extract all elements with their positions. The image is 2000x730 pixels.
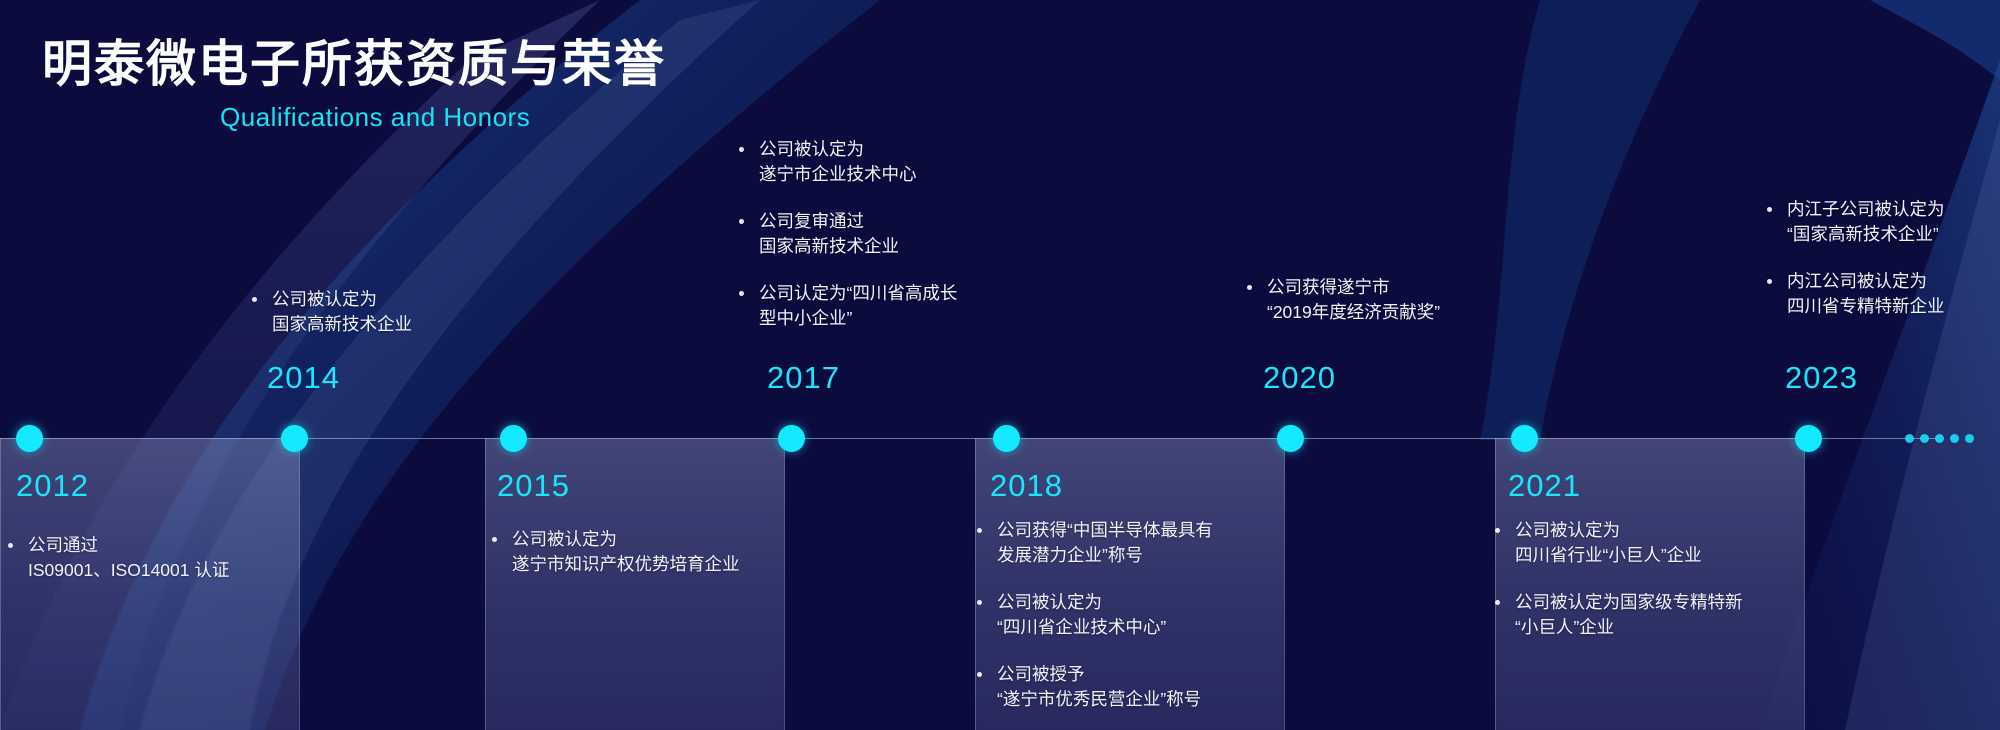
year-label-2017: 2017 <box>767 360 840 396</box>
milestone-item: 公司被认定为国家级专精特新 “小巨人”企业 <box>1493 590 1803 640</box>
milestone-item: 公司获得“中国半导体最具有 发展潜力企业”称号 <box>975 518 1275 568</box>
milestone-item: 公司被认定为 四川省行业“小巨人”企业 <box>1493 518 1803 568</box>
milestone-item: 公司被认定为 遂宁市知识产权优势培育企业 <box>490 527 775 577</box>
timeline-axis-dashes <box>1905 434 1974 443</box>
milestone-item: 公司被认定为 国家高新技术企业 <box>250 287 540 337</box>
milestone-item: 公司复审通过 国家高新技术企业 <box>737 209 1037 259</box>
milestone-item: 公司被认定为 “四川省企业技术中心” <box>975 590 1275 640</box>
milestone-group-2015: 公司被认定为 遂宁市知识产权优势培育企业 <box>490 527 775 577</box>
milestone-item: 内江公司被认定为 四川省专精特新企业 <box>1765 269 2000 319</box>
header: 明泰微电子所获资质与荣誉 Qualifications and Honors <box>42 36 666 133</box>
milestone-item: 公司通过 IS09001、ISO14001 认证 <box>6 533 296 583</box>
milestone-item: 内江子公司被认定为 “国家高新技术企业” <box>1765 197 2000 247</box>
timeline-node-2017[interactable] <box>778 425 805 452</box>
milestone-group-2014: 公司被认定为 国家高新技术企业 <box>250 287 540 337</box>
page-title: 明泰微电子所获资质与荣誉 <box>42 36 666 94</box>
timeline-node-2015[interactable] <box>500 425 527 452</box>
milestone-group-2020: 公司获得遂宁市 “2019年度经济贡献奖” <box>1245 275 1545 325</box>
timeline-node-2014[interactable] <box>281 425 308 452</box>
milestone-group-2021: 公司被认定为 四川省行业“小巨人”企业 公司被认定为国家级专精特新 “小巨人”企… <box>1493 518 1803 640</box>
milestone-item: 公司获得遂宁市 “2019年度经济贡献奖” <box>1245 275 1545 325</box>
year-label-2021: 2021 <box>1508 468 1581 504</box>
year-label-2015: 2015 <box>497 468 570 504</box>
page-subtitle: Qualifications and Honors <box>220 102 666 133</box>
timeline-node-2020[interactable] <box>1277 425 1304 452</box>
year-label-2018: 2018 <box>990 468 1063 504</box>
timeline-node-2012[interactable] <box>16 425 43 452</box>
year-label-2020: 2020 <box>1263 360 1336 396</box>
year-label-2014: 2014 <box>267 360 340 396</box>
milestone-item: 公司被授予 “遂宁市优秀民营企业”称号 <box>975 662 1275 712</box>
milestone-group-2018: 公司获得“中国半导体最具有 发展潜力企业”称号 公司被认定为 “四川省企业技术中… <box>975 518 1275 712</box>
timeline-node-2021[interactable] <box>1511 425 1538 452</box>
milestone-group-2017: 公司被认定为 遂宁市企业技术中心 公司复审通过 国家高新技术企业 公司认定为“四… <box>737 137 1037 331</box>
timeline-infographic: 明泰微电子所获资质与荣誉 Qualifications and Honors 2… <box>0 0 2000 730</box>
year-label-2023: 2023 <box>1785 360 1858 396</box>
milestone-item: 公司被认定为 遂宁市企业技术中心 <box>737 137 1037 187</box>
year-label-2012: 2012 <box>16 468 89 504</box>
milestone-group-2023: 内江子公司被认定为 “国家高新技术企业” 内江公司被认定为 四川省专精特新企业 <box>1765 197 2000 319</box>
timeline-node-2018[interactable] <box>993 425 1020 452</box>
timeline-node-2023[interactable] <box>1795 425 1822 452</box>
milestone-group-2012: 公司通过 IS09001、ISO14001 认证 <box>6 533 296 583</box>
milestone-item: 公司认定为“四川省高成长 型中小企业” <box>737 281 1037 331</box>
